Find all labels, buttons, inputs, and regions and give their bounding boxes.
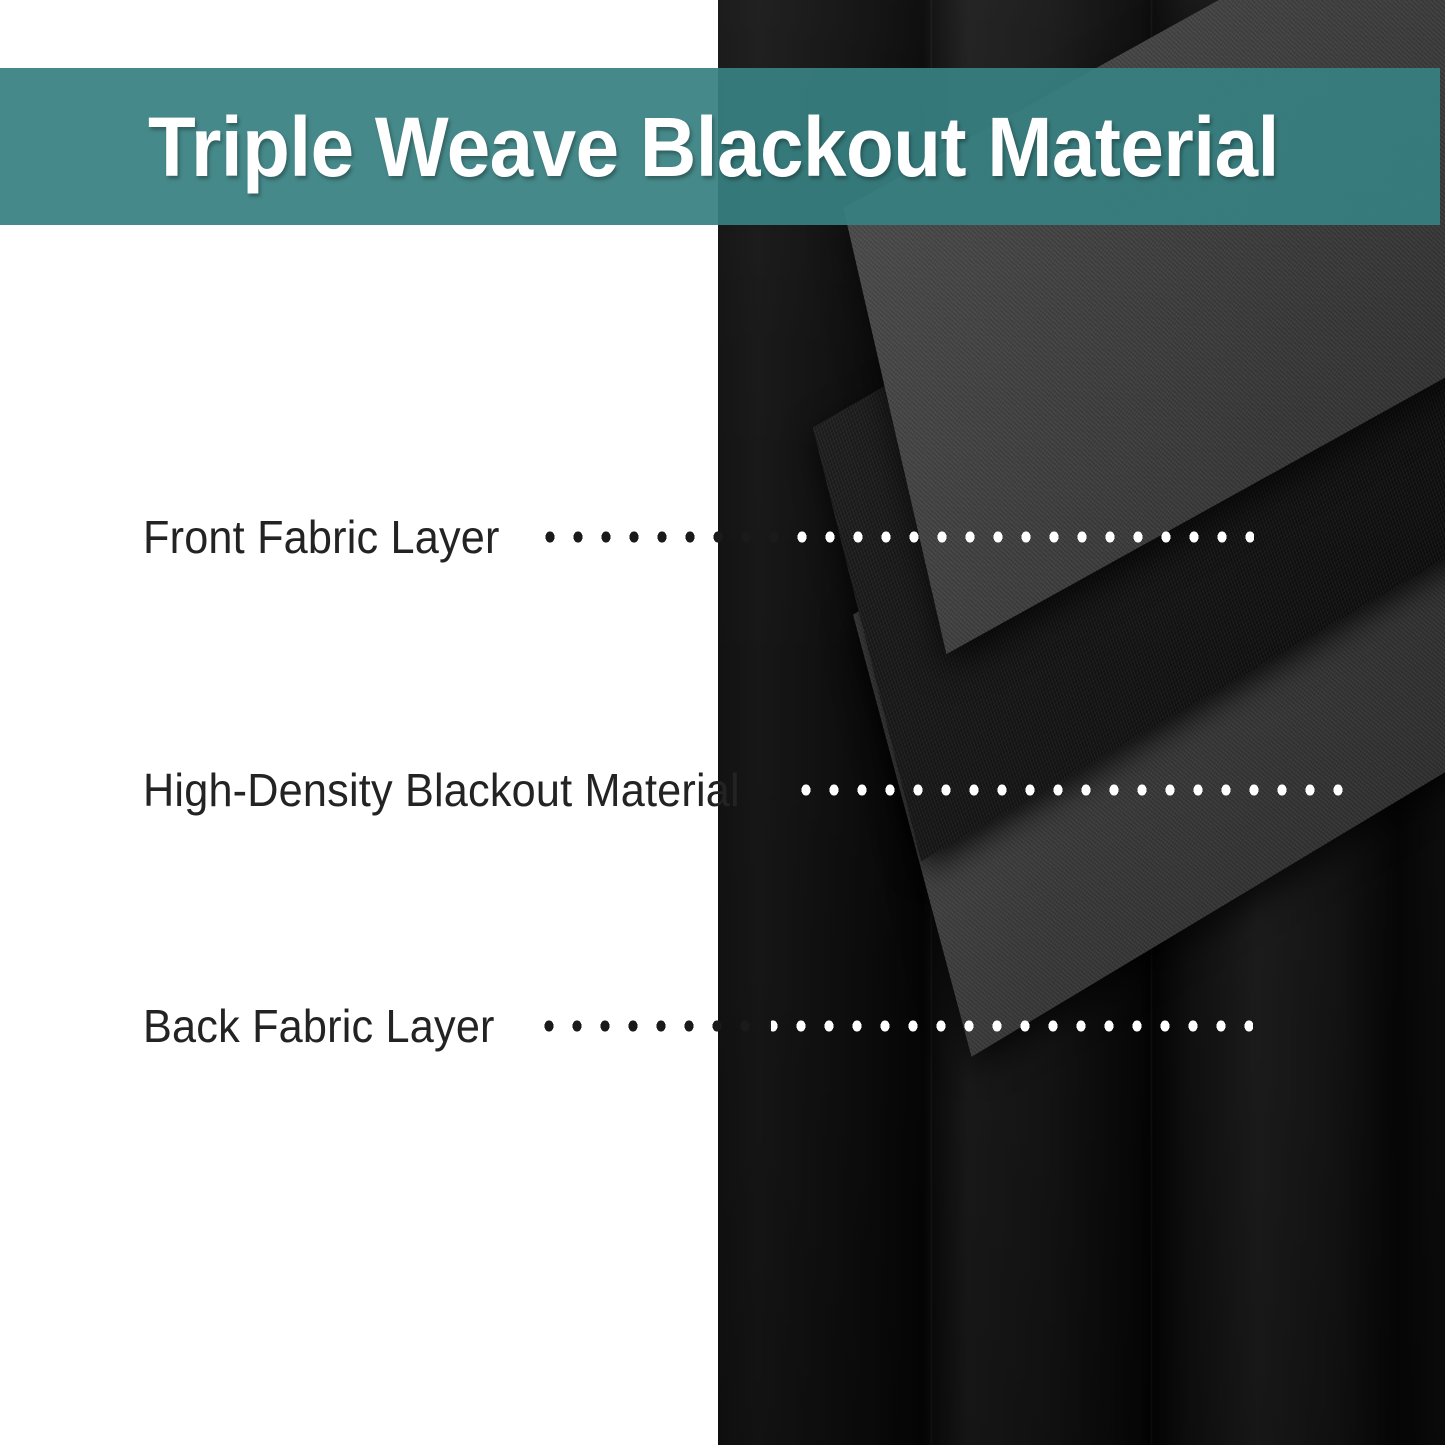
- leader-segment-on-photo: [800, 783, 1348, 797]
- banner-title: Triple Weave Blackout Material: [148, 105, 1279, 189]
- leader-segment-on-white: [544, 530, 787, 544]
- leader-dots-dark: [544, 530, 787, 544]
- callout-label-back-fabric-layer: Back Fabric Layer: [143, 1003, 495, 1049]
- leader-line-back-fabric-layer: [543, 1019, 1253, 1033]
- callout-back-fabric-layer: Back Fabric Layer: [143, 996, 1253, 1056]
- leader-segment-on-photo: [771, 1019, 1253, 1033]
- leader-line-high-density-blackout-material: [800, 783, 1348, 797]
- leader-segment-on-photo: [787, 530, 1254, 544]
- callout-front-fabric-layer: Front Fabric Layer: [143, 507, 1254, 567]
- leader-dots-dark: [543, 1019, 771, 1033]
- leader-line-front-fabric-layer: [544, 530, 1254, 544]
- header-banner: Triple Weave Blackout Material: [0, 68, 1440, 225]
- callout-label-high-density-blackout-material: High-Density Blackout Material: [143, 767, 740, 813]
- leader-dots-light: [771, 1019, 1253, 1033]
- leader-dots-light: [800, 783, 1348, 797]
- callout-high-density-blackout-material: High-Density Blackout Material: [143, 760, 1348, 820]
- leader-segment-on-white: [543, 1019, 771, 1033]
- callout-label-front-fabric-layer: Front Fabric Layer: [143, 514, 500, 560]
- product-infographic: Triple Weave Blackout Material Front Fab…: [0, 0, 1445, 1445]
- leader-dots-light: [787, 530, 1254, 544]
